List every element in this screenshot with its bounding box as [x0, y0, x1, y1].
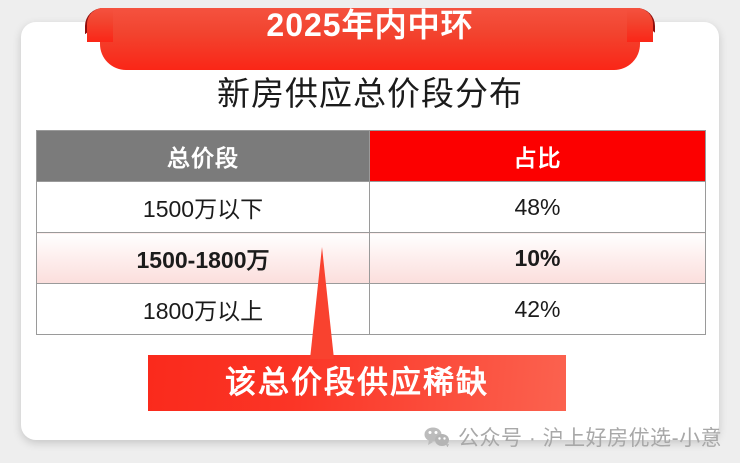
cell-share: 42%	[370, 284, 706, 335]
watermark-label: 公众号 · 沪上好房优选-小意	[458, 422, 722, 452]
table-row: 1500万以下 48%	[37, 182, 706, 233]
table-row-highlighted: 1500-1800万 10%	[37, 233, 706, 284]
up-arrow-icon	[306, 247, 338, 359]
page-subtitle: 新房供应总价段分布	[0, 70, 740, 118]
infographic-card: 2025年内中环 新房供应总价段分布 总价段 占比 1500万以下 48% 15…	[0, 0, 740, 463]
table-header: 总价段 占比	[37, 131, 706, 182]
cell-share: 48%	[370, 182, 706, 233]
cell-price-range: 1500万以下	[37, 182, 370, 233]
table-row: 1800万以上 42%	[37, 284, 706, 335]
price-distribution-table: 总价段 占比 1500万以下 48% 1500-1800万 10% 1800万以…	[36, 130, 706, 335]
ribbon-header: 2025年内中环	[85, 0, 655, 76]
table-body: 1500万以下 48% 1500-1800万 10% 1800万以上 42%	[37, 182, 706, 335]
callout-banner-label: 该总价段供应稀缺	[148, 355, 566, 411]
cell-share: 10%	[370, 233, 706, 284]
watermark: 公众号 · 沪上好房优选-小意	[424, 423, 722, 451]
wechat-icon	[424, 427, 450, 447]
callout-banner: 该总价段供应稀缺	[148, 355, 566, 411]
column-header-share: 占比	[370, 131, 706, 182]
ribbon-title: 2025年内中环	[85, 2, 655, 48]
table-header-row: 总价段 占比	[37, 131, 706, 182]
column-header-price-range: 总价段	[37, 131, 370, 182]
